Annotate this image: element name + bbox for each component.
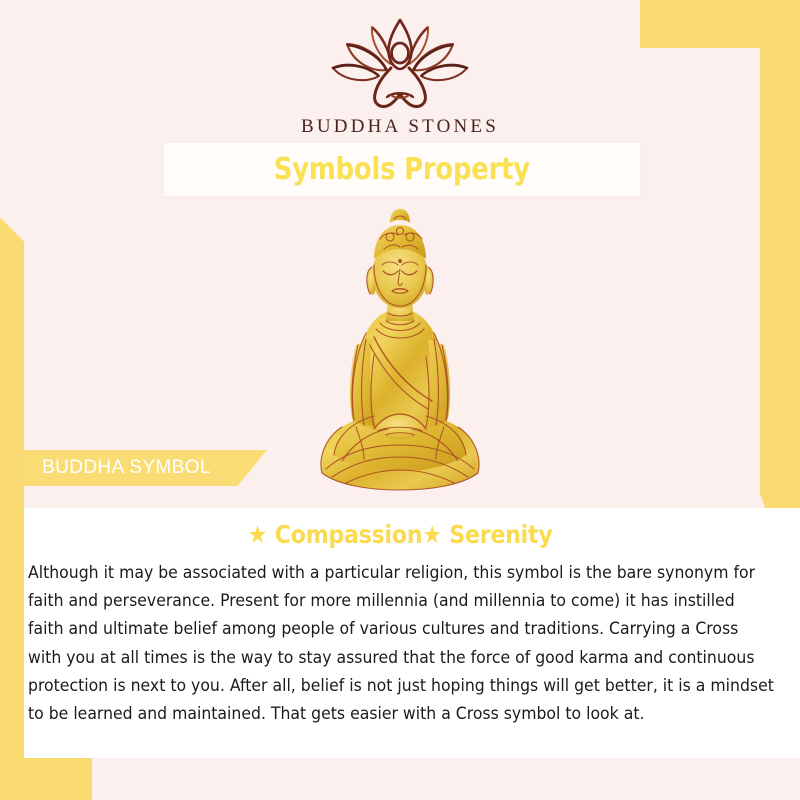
section-tag-buddha-symbol: BUDDHA SYMBOL [22,450,267,486]
poster-page: BUDDHA STONES Symbols Property [0,0,800,800]
brand-logo: BUDDHA STONES [0,18,800,138]
content-panel: ★ Compassion★ Serenity Although it may b… [0,508,800,758]
brand-wordmark: BUDDHA STONES [0,116,800,138]
title-banner: Symbols Property [164,143,640,196]
buddha-statue-image [312,205,488,497]
page-title: Symbols Property [274,152,530,187]
seated-buddha-statue-icon [312,205,488,497]
corner-decoration-left [0,193,24,800]
lotus-meditation-icon [325,18,475,110]
section-subtitle: ★ Compassion★ Serenity [248,520,553,549]
section-tag-label: BUDDHA SYMBOL [22,457,211,479]
section-body-text: Although it may be associated with a par… [28,559,775,728]
section-subtitle-row: ★ Compassion★ Serenity [0,508,800,549]
corner-decoration-bottom-left [0,758,92,800]
